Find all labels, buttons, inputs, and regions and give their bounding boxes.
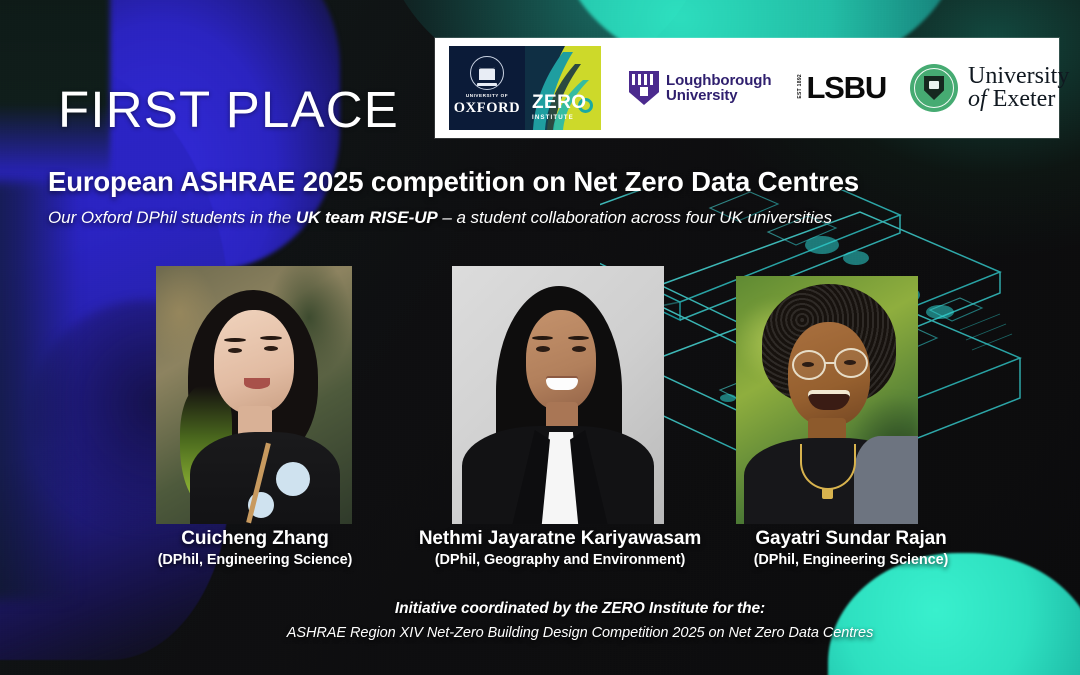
dark-edge-left bbox=[0, 180, 80, 600]
exeter-line-1: University bbox=[968, 65, 1069, 88]
subhead-suffix: – a student collaboration across four UK… bbox=[438, 208, 832, 227]
portrait-2-face bbox=[526, 310, 596, 410]
portrait-3-pendant bbox=[822, 488, 833, 499]
logo-lsbu: EST 1892 LSBU bbox=[797, 74, 886, 102]
person-caption-2: Nethmi Jayaratne Kariyawasam (DPhil, Geo… bbox=[385, 528, 735, 569]
lsbu-established-text: EST 1892 bbox=[797, 74, 803, 99]
portrait-1-brow-right bbox=[260, 336, 282, 340]
oxford-top-line: UNIVERSITY OF bbox=[466, 93, 508, 98]
portrait-1-eye-left bbox=[228, 348, 242, 353]
portrait-2-eye-left bbox=[536, 346, 550, 352]
portrait-2-smile bbox=[546, 378, 578, 390]
portrait-photo-2 bbox=[452, 266, 664, 524]
oxford-crest-icon bbox=[470, 56, 504, 90]
exeter-exeter-text: Exeter bbox=[987, 86, 1056, 112]
portrait-1-eye-right bbox=[264, 346, 278, 351]
footer-line-2: ASHRAE Region XIV Net-Zero Building Desi… bbox=[180, 625, 980, 641]
person-3-role: (DPhil, Engineering Science) bbox=[716, 552, 986, 569]
portrait-3-eye-right bbox=[844, 360, 856, 365]
logo-loughborough-university: Loughborough University bbox=[629, 71, 771, 105]
poster-canvas: UNIVERSITY OF OXFORD ZERO INSTITUTE Loug… bbox=[0, 0, 1080, 675]
first-place-title: FIRST PLACE bbox=[58, 84, 399, 135]
portrait-2-brow-left bbox=[532, 336, 553, 340]
loughborough-shield-icon bbox=[629, 71, 659, 105]
portrait-2-eye-right bbox=[572, 346, 586, 352]
person-caption-1: Cuicheng Zhang (DPhil, Engineering Scien… bbox=[120, 528, 390, 569]
exeter-line-2: of Exeter bbox=[968, 88, 1069, 111]
exeter-of-italic: of bbox=[968, 86, 987, 112]
zero-subtitle: INSTITUTE bbox=[532, 114, 574, 121]
competition-headline: European ASHRAE 2025 competition on Net … bbox=[48, 166, 859, 198]
oxford-wordmark: OXFORD bbox=[454, 101, 520, 116]
logo-university-of-exeter: University of Exeter bbox=[910, 64, 1069, 112]
portrait-1-artwork bbox=[156, 266, 352, 524]
portrait-1-dress-dot-1 bbox=[276, 462, 310, 496]
portrait-3-shawl bbox=[854, 436, 918, 524]
footer-block: Initiative coordinated by the ZERO Insti… bbox=[180, 600, 980, 641]
person-3-name: Gayatri Sundar Rajan bbox=[716, 528, 986, 550]
exeter-shield-icon bbox=[924, 76, 944, 100]
subhead-prefix: Our Oxford DPhil students in the bbox=[48, 208, 296, 227]
loughborough-line-1: Loughborough bbox=[666, 73, 771, 88]
person-1-role: (DPhil, Engineering Science) bbox=[120, 552, 390, 569]
portrait-3-artwork bbox=[736, 276, 918, 524]
lsbu-wordmark: LSBU bbox=[806, 75, 886, 101]
footer-line-1: Initiative coordinated by the ZERO Insti… bbox=[180, 600, 980, 618]
portrait-1-brow-left bbox=[224, 338, 246, 342]
portrait-3-eye-left bbox=[802, 362, 814, 367]
portrait-2-artwork bbox=[452, 266, 664, 524]
team-name-rise-up: UK team RISE-UP bbox=[296, 208, 438, 227]
person-caption-3: Gayatri Sundar Rajan (DPhil, Engineering… bbox=[716, 528, 986, 569]
exeter-wordmark: University of Exeter bbox=[968, 65, 1069, 111]
portrait-2-brow-right bbox=[568, 336, 589, 340]
portrait-photo-1 bbox=[156, 266, 352, 524]
person-2-role: (DPhil, Geography and Environment) bbox=[385, 552, 735, 569]
partner-logo-bar: UNIVERSITY OF OXFORD ZERO INSTITUTE Loug… bbox=[435, 38, 1059, 138]
portrait-1-face bbox=[214, 310, 294, 414]
team-subheadline: Our Oxford DPhil students in the UK team… bbox=[48, 208, 832, 228]
loughborough-line-2: University bbox=[666, 88, 771, 103]
portrait-3-glasses-bridge bbox=[825, 362, 835, 364]
zero-wordmark: ZERO bbox=[532, 93, 586, 112]
logo-zero-institute: ZERO INSTITUTE bbox=[525, 46, 601, 130]
person-2-name: Nethmi Jayaratne Kariyawasam bbox=[385, 528, 735, 550]
exeter-seal-icon bbox=[910, 64, 958, 112]
portrait-1-mouth bbox=[244, 378, 270, 389]
logo-university-of-oxford: UNIVERSITY OF OXFORD bbox=[449, 46, 525, 130]
portrait-photo-3 bbox=[736, 276, 918, 524]
loughborough-wordmark: Loughborough University bbox=[666, 73, 771, 104]
person-1-name: Cuicheng Zhang bbox=[120, 528, 390, 550]
